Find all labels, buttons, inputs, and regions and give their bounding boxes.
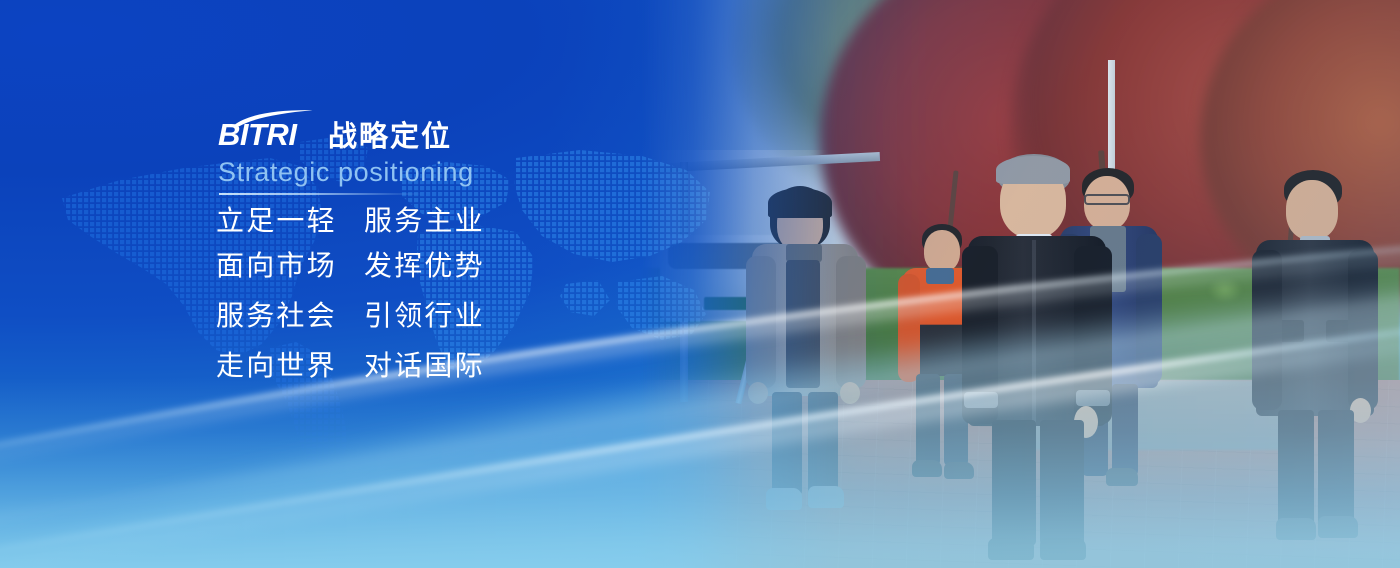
banner-subtitle-en: Strategic positioning <box>218 157 474 187</box>
slogan-line: 服务社会 引领行业 <box>216 301 490 331</box>
bitri-logo-mark: BITRI <box>218 110 314 152</box>
slogan-left: 服务社会 <box>216 301 342 331</box>
slogan-line: 立足一轻 服务主业 <box>216 206 490 236</box>
brand-logo: BITRI 战略定位 <box>218 110 452 152</box>
slogan-right: 发挥优势 <box>364 251 490 281</box>
strategic-positioning-banner: BITRI 战略定位 Strategic positioning 立足一轻 服务… <box>0 0 1400 568</box>
slogan-left: 面向市场 <box>216 251 342 281</box>
slogan-right: 引领行业 <box>364 301 490 331</box>
slogan-list: 立足一轻 服务主业 面向市场 发挥优势 服务社会 引领行业 走向世界 对话国际 <box>216 206 490 396</box>
group-walking-photo <box>640 0 1400 568</box>
slogan-left: 立足一轻 <box>216 206 342 236</box>
slogan-right: 对话国际 <box>364 351 490 381</box>
slogan-right: 服务主业 <box>364 206 490 236</box>
slogan-left: 走向世界 <box>216 351 342 381</box>
slogan-line: 走向世界 对话国际 <box>216 351 490 381</box>
bitri-wordmark: BITRI <box>218 119 296 150</box>
slogan-line: 面向市场 发挥优势 <box>216 251 490 281</box>
title-divider-rule <box>219 193 424 195</box>
banner-text-block: BITRI 战略定位 Strategic positioning 立足一轻 服务… <box>0 0 560 568</box>
banner-title-cn: 战略定位 <box>328 122 452 153</box>
